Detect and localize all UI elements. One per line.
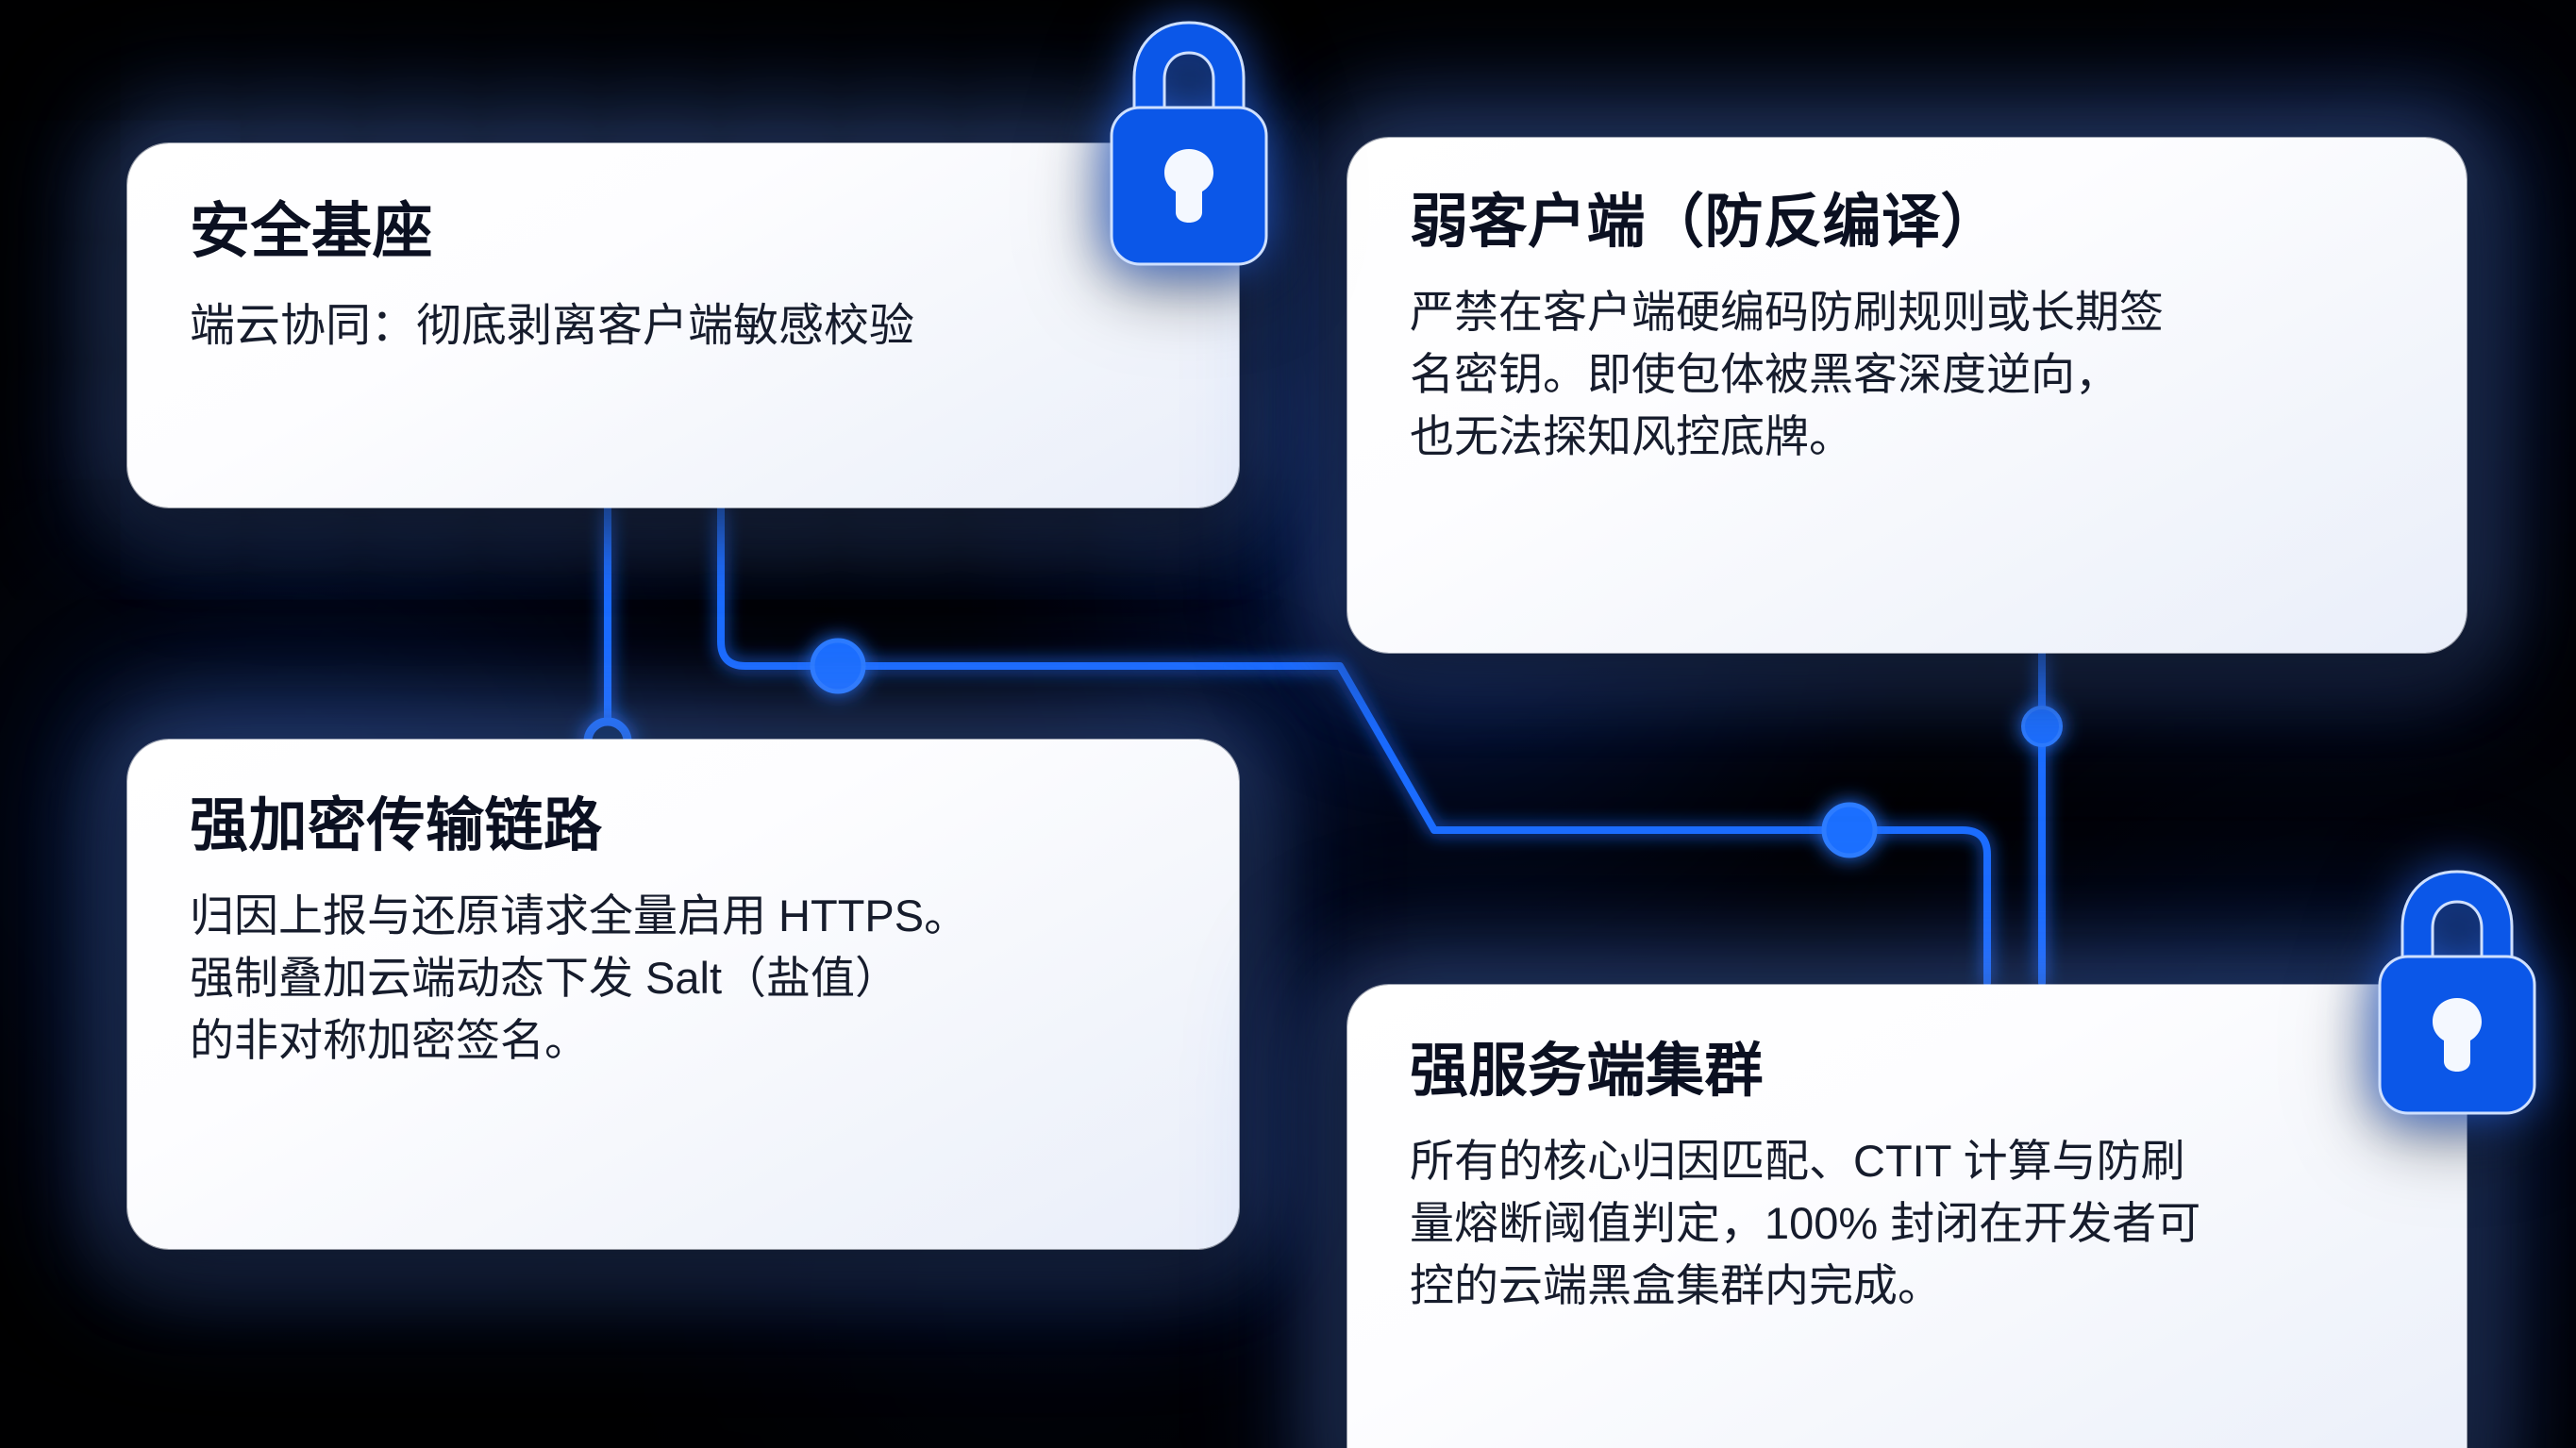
connector-node-right [1824,805,1875,856]
card-body-line: 所有的核心归因匹配、CTIT 计算与防刷 [1410,1130,2408,1192]
card-body-line: 端云协同：彻底剥离客户端敏感校验 [190,294,1180,358]
card-body-line: 强制叠加云端动态下发 Salt（盐值） [190,947,1180,1009]
card-body-line: 归因上报与还原请求全量启用 HTTPS。 [190,885,1180,947]
card-body-line: 的非对称加密签名。 [190,1009,1180,1072]
connector-card1-bus [721,508,1312,666]
padlock-icon [2374,866,2540,1119]
padlock-icon [1106,17,1272,270]
padlock-shackle [1134,23,1244,119]
connector-node-card2 [2023,707,2061,745]
card-body-line: 也无法探知风控底牌。 [1410,406,2408,468]
card-body: 端云协同：彻底剥离客户端敏感校验 [190,294,1180,358]
card-body-line: 控的云端黑盒集群内完成。 [1410,1255,2408,1317]
card-weak-client[interactable]: 弱客户端（防反编译） 严禁在客户端硬编码防刷规则或长期签 名密钥。即使包体被黑客… [1347,138,2467,653]
card-title: 强服务端集群 [1410,1038,2408,1106]
card-body: 归因上报与还原请求全量启用 HTTPS。 强制叠加云端动态下发 Salt（盐值）… [190,885,1180,1071]
card-security-foundation[interactable]: 安全基座 端云协同：彻底剥离客户端敏感校验 [127,143,1239,508]
card-body-line: 名密钥。即使包体被黑客深度逆向， [1410,343,2408,406]
card-body-line: 严禁在客户端硬编码防刷规则或长期签 [1410,281,2408,343]
connector-node-left [812,641,863,691]
card-strong-server-cluster[interactable]: 强服务端集群 所有的核心归因匹配、CTIT 计算与防刷 量熔断阈值判定，100%… [1347,985,2467,1448]
card-body: 严禁在客户端硬编码防刷规则或长期签 名密钥。即使包体被黑客深度逆向， 也无法探知… [1410,281,2408,467]
connector-bus-card4 [1849,830,1987,983]
card-body-line: 量熔断阈值判定，100% 封闭在开发者可 [1410,1192,2408,1255]
diagram-canvas: 安全基座 端云协同：彻底剥离客户端敏感校验 弱客户端（防反编译） 严禁在客户端硬… [0,0,2576,1448]
card-strong-encrypted-transport[interactable]: 强加密传输链路 归因上报与还原请求全量启用 HTTPS。 强制叠加云端动态下发 … [127,740,1239,1249]
card-body: 所有的核心归因匹配、CTIT 计算与防刷 量熔断阈值判定，100% 封闭在开发者… [1410,1130,2408,1316]
card-title: 弱客户端（防反编译） [1410,189,2408,257]
card-title: 强加密传输链路 [190,792,1180,860]
card-title: 安全基座 [190,196,1180,266]
padlock-shackle [2402,872,2512,968]
